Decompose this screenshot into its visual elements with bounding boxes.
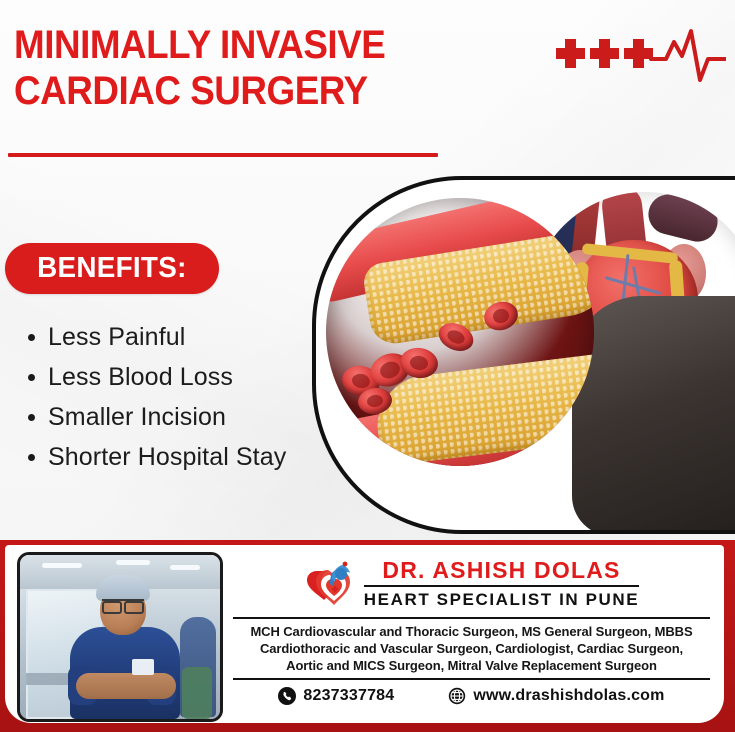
benefits-badge: BENEFITS: bbox=[5, 243, 219, 294]
benefit-label: Less Blood Loss bbox=[48, 362, 233, 393]
medical-illustration-panel bbox=[312, 176, 735, 534]
contact-row: 8237337784 bbox=[233, 687, 710, 705]
brand-row: DR. ASHISH DOLAS HEART SPECIALIST IN PUN… bbox=[304, 557, 639, 610]
doctor-name: DR. ASHISH DOLAS bbox=[382, 557, 620, 583]
footer-content: DR. ASHISH DOLAS HEART SPECIALIST IN PUN… bbox=[223, 545, 724, 723]
medical-cross-icon bbox=[556, 39, 653, 68]
brand-rule bbox=[364, 585, 639, 587]
credentials-block: MCH Cardiovascular and Thoracic Surgeon,… bbox=[233, 617, 710, 680]
footer-band: DR. ASHISH DOLAS HEART SPECIALIST IN PUN… bbox=[0, 540, 735, 732]
title-line-1: MINIMALLY INVASIVE bbox=[14, 22, 492, 68]
website-contact[interactable]: www.drashishdolas.com bbox=[448, 687, 664, 705]
bullet-icon bbox=[28, 454, 35, 461]
poster-canvas: MINIMALLY INVASIVE CARDIAC SURGERY BENEF… bbox=[0, 0, 735, 732]
doctor-tagline: HEART SPECIALIST IN PUNE bbox=[364, 590, 639, 610]
benefit-label: Shorter Hospital Stay bbox=[48, 442, 286, 473]
list-item: Less Blood Loss bbox=[28, 362, 358, 393]
heart-figure-logo bbox=[304, 561, 354, 607]
bullet-icon bbox=[28, 334, 35, 341]
benefits-list: Less Painful Less Blood Loss Smaller Inc… bbox=[28, 322, 358, 482]
benefit-label: Smaller Incision bbox=[48, 402, 226, 433]
footer-card: DR. ASHISH DOLAS HEART SPECIALIST IN PUN… bbox=[5, 545, 724, 723]
doctor-portrait bbox=[17, 552, 223, 722]
website-url: www.drashishdolas.com bbox=[473, 687, 664, 705]
title-line-2: CARDIAC SURGERY bbox=[14, 68, 492, 114]
phone-icon bbox=[278, 687, 296, 705]
ecg-pulse-icon bbox=[548, 28, 726, 90]
title-divider bbox=[8, 153, 438, 157]
phone-contact[interactable]: 8237337784 bbox=[278, 687, 394, 705]
benefits-heading: BENEFITS: bbox=[37, 252, 187, 285]
globe-icon bbox=[448, 687, 466, 705]
bullet-icon bbox=[28, 374, 35, 381]
credential-line: MCH Cardiovascular and Thoracic Surgeon,… bbox=[233, 623, 710, 640]
clogged-artery-illustration bbox=[326, 198, 594, 466]
list-item: Smaller Incision bbox=[28, 402, 358, 433]
credential-line: Cardiothoracic and Vascular Surgeon, Car… bbox=[233, 640, 710, 657]
list-item: Less Painful bbox=[28, 322, 358, 353]
page-title: MINIMALLY INVASIVE CARDIAC SURGERY bbox=[14, 22, 534, 114]
credential-line: Aortic and MICS Surgeon, Mitral Valve Re… bbox=[233, 657, 710, 674]
benefit-label: Less Painful bbox=[48, 322, 185, 353]
bullet-icon bbox=[28, 414, 35, 421]
list-item: Shorter Hospital Stay bbox=[28, 442, 358, 473]
phone-number: 8237337784 bbox=[303, 687, 394, 705]
torso-silhouette bbox=[572, 296, 735, 534]
